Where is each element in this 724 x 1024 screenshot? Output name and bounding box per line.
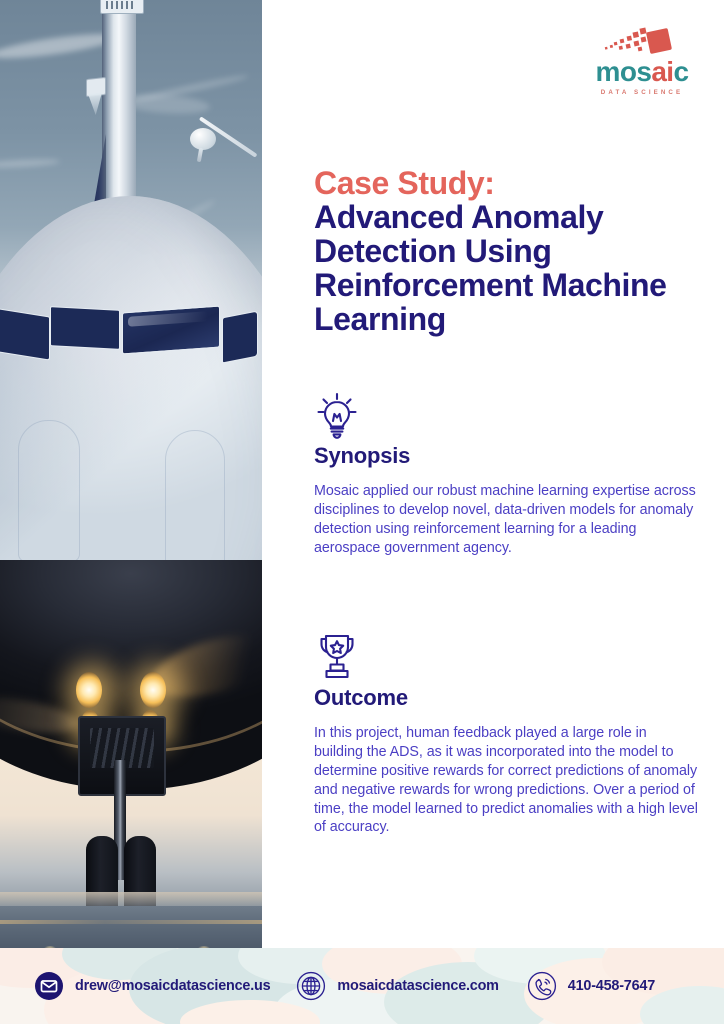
runway-tarmac <box>0 906 262 948</box>
fuselage-door-outline <box>165 430 225 572</box>
case-study-page: mosaic DATA SCIENCE Case Study:Advanced … <box>0 0 724 1024</box>
content-column: mosaic DATA SCIENCE Case Study:Advanced … <box>262 0 724 948</box>
logo-word-part2: c <box>673 56 688 87</box>
landing-light <box>76 672 102 708</box>
mosaic-logo[interactable]: mosaic DATA SCIENCE <box>590 26 694 96</box>
fin-sensor-pod <box>86 77 106 97</box>
fin-tip-antenna <box>100 0 144 14</box>
contact-website[interactable]: mosaicdatascience.com <box>296 971 498 1001</box>
cockpit-window <box>0 307 50 360</box>
page-title: Case Study:Advanced Anomaly Detection Us… <box>314 167 694 337</box>
fuselage-door-outline <box>18 420 80 562</box>
contact-email[interactable]: drew@mosaicdatascience.us <box>34 971 270 1001</box>
section-outcome: Outcome In this project, human feedback … <box>314 632 698 837</box>
section-title-synopsis: Synopsis <box>314 444 698 468</box>
globe-icon <box>296 971 326 1001</box>
cockpit-window <box>222 311 258 364</box>
antenna-sensor <box>190 128 216 150</box>
section-body-outcome: In this project, human feedback played a… <box>314 724 698 837</box>
cockpit-window <box>50 306 120 350</box>
contact-phone[interactable]: 410-458-7647 <box>527 971 655 1001</box>
lightbulb-icon <box>314 390 698 442</box>
footer-contact-bar: drew@mosaicdatascience.us mosaicdatasc <box>0 948 724 1024</box>
email-icon <box>34 971 64 1001</box>
logo-word-part1: mos <box>596 56 652 87</box>
landing-light <box>140 672 166 708</box>
contact-phone-text: 410-458-7647 <box>568 978 655 994</box>
logo-tagline: DATA SCIENCE <box>590 89 694 96</box>
mosaic-tiles-icon <box>590 26 694 56</box>
phone-icon <box>527 971 557 1001</box>
title-eyebrow: Case Study: <box>314 167 694 201</box>
contact-email-text: drew@mosaicdatascience.us <box>75 978 270 994</box>
title-main: Advanced Anomaly Detection Using Reinfor… <box>314 199 667 337</box>
contact-website-text: mosaicdatascience.com <box>337 978 498 994</box>
footer-contacts: drew@mosaicdatascience.us mosaicdatasc <box>0 948 724 1024</box>
section-synopsis: Synopsis Mosaic applied our robust machi… <box>314 390 698 558</box>
logo-wordmark: mosaic <box>590 58 694 86</box>
aircraft-photo <box>0 0 262 948</box>
section-title-outcome: Outcome <box>314 686 698 710</box>
section-body-synopsis: Mosaic applied our robust machine learni… <box>314 482 698 557</box>
trophy-icon <box>314 632 698 684</box>
logo-word-accent: ai <box>651 56 673 87</box>
cockpit-windows <box>0 300 262 356</box>
